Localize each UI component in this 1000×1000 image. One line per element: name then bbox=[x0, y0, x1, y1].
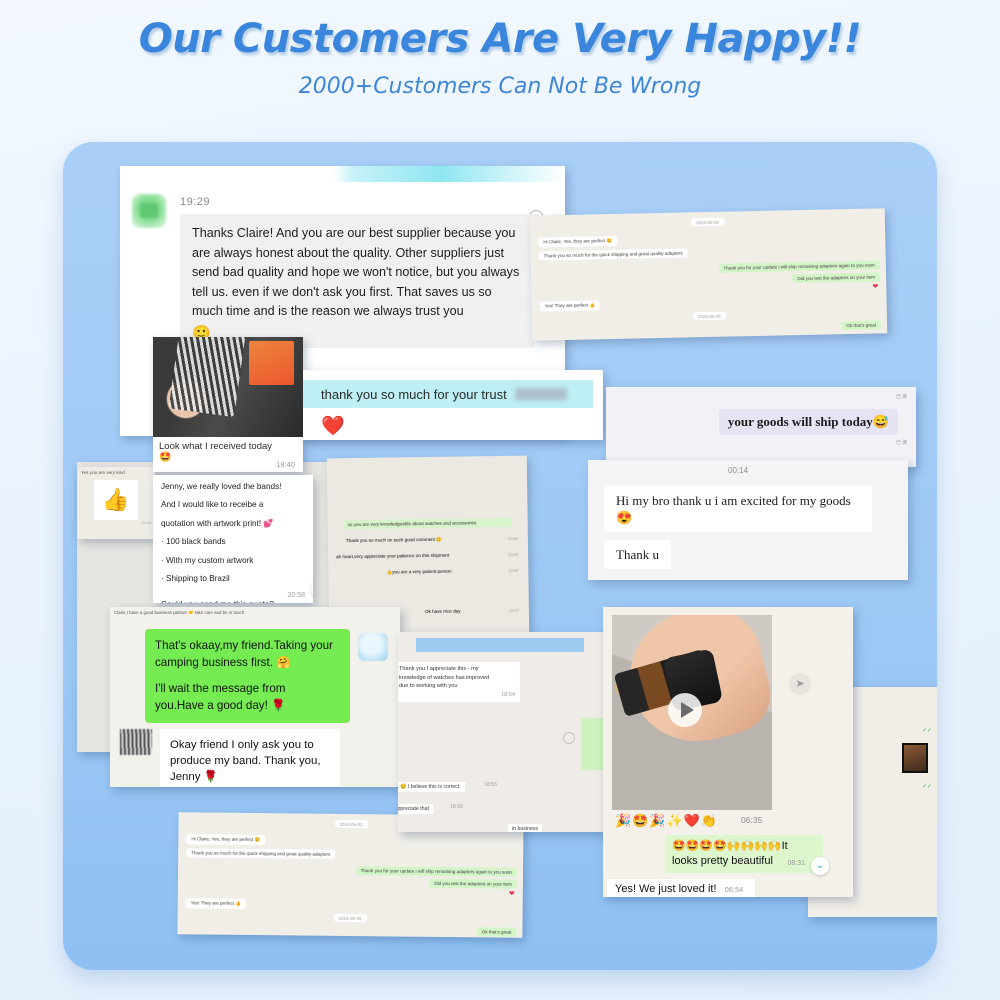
message-timestamp: 06:54 bbox=[725, 885, 744, 894]
chat-message: Hi Claire, Yes, they are perfect 😊 bbox=[538, 236, 617, 248]
camping-business-card: Claire,I have a good business partner 🤝 … bbox=[110, 607, 400, 787]
message-timestamp: 18:55 bbox=[450, 804, 463, 810]
chat-message: 👍you are a very patient person bbox=[386, 569, 451, 576]
chat-window-topbar bbox=[120, 166, 565, 182]
ship-today-bubble: your goods will ship today😅 bbox=[719, 409, 898, 435]
heart-reaction-icon: ❤️ bbox=[321, 414, 345, 438]
heart-reaction-icon: ❤ bbox=[509, 890, 515, 898]
quote-line: · Shipping to Brazil bbox=[153, 567, 313, 585]
message-timestamp: 18:55 bbox=[484, 782, 497, 788]
chat-message: Ok have nice day bbox=[425, 609, 461, 614]
received-bands-photo[interactable] bbox=[153, 337, 303, 437]
message-timestamp: 19:29 bbox=[180, 196, 210, 208]
heart-reaction-icon: ❤ bbox=[872, 282, 878, 290]
play-button-icon[interactable] bbox=[668, 693, 702, 727]
chat-message: Appreciate that bbox=[398, 804, 433, 814]
double-check-icon: ✓✓ bbox=[922, 727, 932, 734]
chat-message: Ok that's great bbox=[841, 320, 881, 330]
video-testimonial-card: ➤ 🎉🤩🎉✨❤️👏 06:35 🤩🤩🤩🤩🙌🙌🙌🙌It looks pretty … bbox=[603, 607, 853, 897]
chevron-down-icon[interactable]: ⌄ bbox=[811, 857, 829, 875]
chat-window-topbar bbox=[416, 638, 584, 652]
date-divider: 2024-05-02 bbox=[691, 218, 724, 227]
ship-today-card: 已读 your goods will ship today😅 已读 bbox=[606, 387, 916, 467]
bubble-line: due to working with you bbox=[399, 682, 515, 691]
produce-band-bubble: Okay friend I only ask you to produce my… bbox=[160, 729, 340, 787]
avatar bbox=[120, 729, 152, 755]
page-subtitle: 2000+Customers Can Not Be Wrong bbox=[0, 74, 1000, 99]
testimonial-message-text: Thanks Claire! And you are our best supp… bbox=[192, 224, 523, 322]
watch-on-wrist-video[interactable] bbox=[612, 615, 772, 810]
chat-message: Hi my bro thank u i am excited for my go… bbox=[604, 486, 872, 532]
quote-line: Jenny, we really loved the bands! bbox=[153, 475, 313, 493]
chat-message: Thank you so much on such good comment 😊 bbox=[346, 537, 442, 544]
excited-customer-card: 00:14 Hi my bro thank u i am excited for… bbox=[588, 460, 908, 580]
emoji-reactions: 🎉🤩🎉✨❤️👏 bbox=[615, 813, 718, 829]
chat-message: Thank you for your update i will ship re… bbox=[718, 260, 880, 272]
appreciation-card: Thank you I appreciate this - my knowled… bbox=[398, 632, 623, 832]
bubble-line: Thank you I appreciate this - my bbox=[399, 665, 515, 674]
message-timestamp: 18:54 bbox=[399, 691, 515, 700]
chat-message: Yes! They are perfect 👍 bbox=[540, 300, 601, 311]
trust-message-text: thank you so much for your trust bbox=[321, 387, 507, 402]
chat-message: Thank you so much for the quick shipping… bbox=[538, 248, 687, 260]
video-reply-green-bubble: 🤩🤩🤩🤩🙌🙌🙌🙌It looks pretty beautiful 08:31 bbox=[665, 835, 823, 873]
read-receipt-label: 已读 bbox=[896, 439, 908, 446]
message-timestamp: 20:04 bbox=[508, 536, 518, 541]
forward-arrow-icon[interactable]: ➤ bbox=[789, 673, 811, 695]
thumbs-up-chat-card: Yes you are very kind 👍 20:03 bbox=[77, 467, 155, 539]
chat-message: Thank you so much for the quick shipping… bbox=[186, 848, 335, 859]
date-divider: 2024-05-05 bbox=[693, 312, 726, 321]
testimonial-collage-stage: 19:29 ☺ Thanks Claire! And you are our b… bbox=[63, 142, 937, 970]
message-timestamp: 20:07 bbox=[509, 608, 519, 613]
date-divider: 2024-05-02 bbox=[334, 820, 367, 828]
green-message-text: 🤩🤩🤩🤩🙌🙌🙌🙌It looks pretty beautiful bbox=[672, 840, 788, 867]
message-timestamp: 20:03 bbox=[77, 520, 155, 525]
chat-message: in business bbox=[508, 824, 542, 832]
thumbs-up-message-text: Yes you are very kind bbox=[77, 467, 155, 478]
knowledge-improved-bubble: Thank you I appreciate this - my knowled… bbox=[398, 662, 520, 702]
white-line: produce my band. Thank you, bbox=[170, 753, 330, 769]
green-line: I'll wait the message from bbox=[155, 681, 340, 698]
watch-photo-thumbnail[interactable] bbox=[902, 743, 928, 773]
trust-message-card: thank you so much for your trust ❤️ bbox=[303, 370, 603, 440]
white-message-text: Yes! We just loved it! bbox=[615, 883, 717, 895]
chat-message: Thank you for your update i will ship re… bbox=[356, 866, 518, 877]
chat-message: Did you test the adapters on your item bbox=[792, 272, 880, 283]
green-line: camping business first. 🤗 bbox=[155, 655, 340, 672]
adapters-chat-body: 2024-05-02 Hi Claire, Yes, they are perf… bbox=[530, 208, 888, 340]
chat-message: Claire,I have a good business partner 🤝 … bbox=[114, 610, 244, 616]
camping-green-bubble: That's okaay,my friend.Taking your campi… bbox=[145, 629, 350, 723]
message-timestamp: 06:35 bbox=[741, 815, 762, 825]
white-line: Okay friend I only ask you to bbox=[170, 737, 330, 753]
chat-message: 😊 I believe this is correct. bbox=[398, 782, 465, 792]
trust-message-bubble: thank you so much for your trust bbox=[303, 380, 593, 408]
read-receipt-label: 已读 bbox=[896, 393, 908, 400]
chat-message: Yes! They are perfect 👍 bbox=[186, 898, 247, 909]
message-timestamp: 20:05 bbox=[508, 552, 518, 557]
avatar bbox=[132, 194, 166, 228]
green-line: you.Have a good day! 🌹 bbox=[155, 698, 340, 715]
quotation-request-card: Jenny, we really loved the bands! And I … bbox=[153, 475, 313, 603]
chat-message: so you are very knowledgeable about watc… bbox=[344, 518, 512, 529]
chat-message: Ok that's great bbox=[477, 927, 517, 936]
message-timestamp: 20:58 bbox=[287, 592, 305, 599]
chat-message: Hi Claire, Yes, they are perfect 😊 bbox=[186, 834, 265, 845]
testimonial-message-bubble: Thanks Claire! And you are our best supp… bbox=[180, 214, 535, 348]
record-icon bbox=[563, 732, 575, 744]
bubble-line: knowledge of watches has improved bbox=[399, 674, 515, 683]
chat-message: Thank u bbox=[604, 540, 671, 569]
page-title: Our Customers Are Very Happy!! bbox=[0, 16, 1000, 62]
quote-line: · 100 black bands bbox=[153, 530, 313, 548]
message-timestamp: 18:40 bbox=[276, 460, 295, 469]
white-line: Jenny 🌹 bbox=[170, 769, 330, 785]
photo-caption: Look what I received today bbox=[153, 437, 303, 452]
green-line: That's okaay,my friend.Taking your bbox=[155, 638, 340, 655]
message-timestamp: 20:06 bbox=[508, 568, 518, 573]
quote-line: quotation with artwork print! 💕 bbox=[153, 512, 313, 530]
page-header: Our Customers Are Very Happy!! 2000+Cust… bbox=[0, 0, 1000, 99]
double-check-icon: ✓✓ bbox=[922, 783, 932, 790]
thumbs-up-sticker: 👍 bbox=[94, 480, 138, 520]
date-divider: 2024-05-05 bbox=[333, 914, 366, 922]
message-timestamp: 00:14 bbox=[728, 466, 748, 475]
received-bands-photo-card: Look what I received today 🤩 18:40 bbox=[153, 337, 303, 472]
chat-message: Did you test the adapters on your item bbox=[429, 879, 517, 889]
adapters-chat-card: 2024-05-02 Hi Claire, Yes, they are perf… bbox=[530, 208, 888, 340]
snow-globe-sticker bbox=[358, 633, 388, 661]
message-timestamp: 08:31 bbox=[787, 856, 805, 871]
quote-line: And I would like to receibe a bbox=[153, 493, 313, 511]
quote-line: · With my custom artwork bbox=[153, 549, 313, 567]
chat-message: ah heart,very appreciate your patience o… bbox=[336, 553, 449, 560]
blurred-name-redaction bbox=[515, 388, 567, 400]
video-reply-white-bubble: Yes! We just loved it! 06:54 bbox=[607, 879, 755, 897]
